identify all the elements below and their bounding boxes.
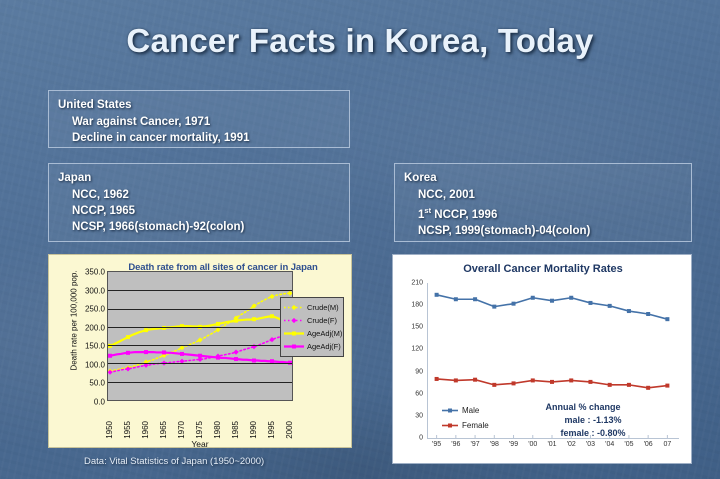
x-tick-label: 07 — [663, 441, 671, 448]
x-tick-label: 1995 — [267, 421, 276, 439]
chart-japan-x-ticks: 1950195519601965197019751980198519901995… — [107, 403, 295, 439]
legend-swatch — [283, 316, 305, 325]
info-box-item: NCSP, 1966(stomach)-92(colon) — [58, 219, 340, 235]
x-tick-label: 1975 — [195, 421, 204, 439]
gridline — [108, 327, 292, 328]
info-box-japan: Japan NCC, 1962 NCCP, 1965 NCSP, 1966(st… — [48, 163, 350, 242]
y-tick-label: 350.0 — [85, 268, 105, 277]
info-box-united-states: United States War against Cancer, 1971 D… — [48, 90, 350, 148]
annotation-line-1: Annual % change — [493, 401, 673, 414]
gridline — [108, 382, 292, 383]
x-tick-label: 1955 — [123, 421, 132, 439]
x-tick-label: '06 — [644, 441, 653, 448]
y-tick-label: 180 — [411, 302, 423, 309]
legend-item: AgeAdj(M) — [283, 327, 341, 340]
y-tick-label: 50.0 — [89, 379, 105, 388]
chart-japan-x-axis-label: Year — [107, 439, 293, 449]
info-box-item: War against Cancer, 1971 — [58, 114, 340, 130]
gridline — [108, 345, 292, 346]
info-box-heading: United States — [58, 97, 340, 113]
annotation-line-3: female : -0.80% — [493, 427, 673, 440]
x-tick-label: '03 — [586, 441, 595, 448]
x-tick-label: '04 — [605, 441, 614, 448]
x-tick-label: '02 — [567, 441, 576, 448]
chart-korea-legend: MaleFemale — [441, 403, 489, 433]
chart-japan-inner: Death rate from all sites of cancer in J… — [53, 259, 347, 443]
info-box-korea: Korea NCC, 2001 1st NCCP, 1996 NCSP, 199… — [394, 163, 692, 242]
info-box-item-nccp: 1st NCCP, 1996 — [404, 203, 682, 223]
legend-label: Female — [462, 421, 489, 430]
gridline — [108, 290, 292, 291]
legend-item: Male — [441, 403, 489, 418]
chart-japan-y-ticks: 0.050.0100.0150.0200.0250.0300.0350.0 — [71, 271, 105, 401]
chart-korea-title: Overall Cancer Mortality Rates — [393, 263, 693, 275]
x-tick-label: '05 — [624, 441, 633, 448]
chart-japan-legend: Crude(M)Crude(F)AgeAdj(M)AgeAdj(F) — [280, 297, 344, 357]
chart-korea-annotation: Annual % change male : -1.13% female : -… — [493, 401, 673, 440]
x-tick-label: '97 — [471, 441, 480, 448]
info-box-heading: Japan — [58, 170, 340, 186]
legend-swatch — [441, 406, 459, 415]
legend-label: Crude(F) — [307, 316, 337, 325]
y-tick-label: 150.0 — [85, 342, 105, 351]
y-tick-label: 300.0 — [85, 286, 105, 295]
y-tick-label: 100.0 — [85, 360, 105, 369]
y-tick-label: 250.0 — [85, 305, 105, 314]
y-tick-label: 90 — [415, 368, 423, 375]
x-tick-label: '98 — [490, 441, 499, 448]
page-title: Cancer Facts in Korea, Today — [0, 22, 720, 60]
legend-item: Female — [441, 418, 489, 433]
legend-label: Male — [462, 406, 479, 415]
y-tick-label: 60 — [415, 390, 423, 397]
y-tick-label: 0 — [419, 435, 423, 442]
x-tick-label: '95 — [432, 441, 441, 448]
x-tick-label: 1950 — [105, 421, 114, 439]
legend-swatch — [283, 342, 305, 351]
legend-item: Crude(F) — [283, 314, 341, 327]
x-tick-label: 1990 — [249, 421, 258, 439]
annotation-line-2: male : -1.13% — [493, 414, 673, 427]
y-tick-label: 200.0 — [85, 323, 105, 332]
x-tick-label: 1965 — [159, 421, 168, 439]
legend-swatch — [283, 303, 305, 312]
legend-swatch — [441, 421, 459, 430]
chart-japan-plot-area — [107, 271, 293, 401]
y-tick-label: 0.0 — [94, 398, 105, 407]
info-box-item: Decline in cancer mortality, 1991 — [58, 130, 340, 146]
legend-label: AgeAdj(M) — [307, 329, 342, 338]
gridline — [108, 363, 292, 364]
x-tick-label: 1970 — [177, 421, 186, 439]
chart-japan-death-rate: Death rate from all sites of cancer in J… — [48, 254, 352, 448]
y-tick-label: 150 — [411, 324, 423, 331]
x-tick-label: 2000 — [285, 421, 294, 439]
x-tick-label: 1985 — [231, 421, 240, 439]
source-caption: Data: Vital Statistics of Japan (1950~20… — [84, 456, 264, 467]
x-tick-label: 1980 — [213, 421, 222, 439]
info-box-item: NCSP, 1999(stomach)-04(colon) — [404, 223, 682, 239]
gridline — [108, 309, 292, 310]
legend-label: AgeAdj(F) — [307, 342, 341, 351]
info-box-item: NCC, 1962 — [58, 187, 340, 203]
legend-item: Crude(M) — [283, 301, 341, 314]
legend-swatch — [283, 329, 305, 338]
chart-korea-x-ticks: '95'96'97'98'99'00'01'02'03'04'05'0607 — [427, 441, 677, 455]
y-tick-label: 30 — [415, 412, 423, 419]
y-tick-label: 210 — [411, 280, 423, 287]
chart-korea-mortality: Overall Cancer Mortality Rates 030609012… — [392, 254, 692, 464]
x-tick-label: '00 — [528, 441, 537, 448]
legend-item: AgeAdj(F) — [283, 340, 341, 353]
legend-label: Crude(M) — [307, 303, 339, 312]
x-tick-label: '01 — [547, 441, 556, 448]
chart-korea-y-ticks: 0306090120150180210 — [395, 283, 423, 438]
slide-canvas: Cancer Facts in Korea, Today United Stat… — [0, 0, 720, 479]
x-tick-label: '96 — [451, 441, 460, 448]
info-box-item: NCCP, 1965 — [58, 203, 340, 219]
y-tick-label: 120 — [411, 346, 423, 353]
x-tick-label: 1960 — [141, 421, 150, 439]
info-box-heading: Korea — [404, 170, 682, 186]
info-box-item: NCC, 2001 — [404, 187, 682, 203]
x-tick-label: '99 — [509, 441, 518, 448]
